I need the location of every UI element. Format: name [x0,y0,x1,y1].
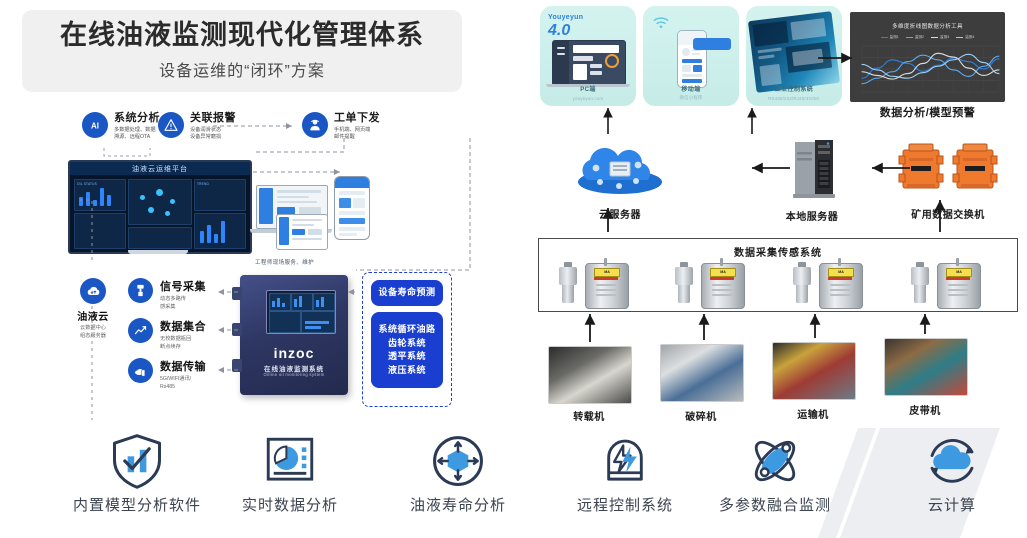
cloud-compute-icon [877,430,1027,492]
feature-desc: 动态多路传 感采集 [160,296,206,312]
chat-bubble-icon [693,38,731,50]
node-label: 本地服务器 [752,208,872,223]
card-label: 移动端 [643,84,739,93]
svg-text:AI: AI [91,121,99,130]
bottom-item-label: 远程控制系统 [550,494,700,515]
tablet-illustration [276,214,328,250]
monitor-stand [128,250,188,254]
machine-photo[interactable] [660,344,744,402]
sensor-pair[interactable]: MA [787,261,877,307]
page-title: 在线油液监测现代化管理体系 [60,21,424,51]
bottom-item-model-software[interactable]: 内置模型分析软件 [62,430,212,515]
card-label: PC端 [540,84,636,93]
node-label: 云服务器 [560,206,680,221]
tower-server-icon [783,138,841,200]
node-cloud-server[interactable]: 云服务器 [560,148,680,221]
shield-chart-icon [62,430,212,492]
transmit-icon [128,358,153,383]
sensor-pair[interactable]: MA [669,261,759,307]
lightning-dome-icon [550,430,700,492]
chart-plot [850,42,1005,100]
feature-work-order[interactable]: 工单下发 手机端、网页端 邮件提醒 [302,112,380,142]
device-brand-text: inzoc [274,345,315,361]
device-screen [266,290,336,334]
feature-desc: 手机端、网页端 邮件提醒 [334,127,380,143]
feature-label: 工单下发 [334,112,380,125]
legend-item: 监测2 [906,35,924,40]
chart-title: 多维度折线图数据分析工具 [850,22,1005,30]
feature-desc: 多数据处理、数据 溯源、远程OTA [114,127,160,143]
sensor-icon [128,278,153,303]
machine-photo[interactable] [548,346,632,404]
bottom-item-label: 油液寿命分析 [383,494,533,515]
device-brand: inzoc [240,345,348,361]
card-industrial[interactable]: 工业控制系统 RS485/232/RJ45/4G/5G [746,6,842,106]
card-sublabel: 微信小程序 [643,95,739,101]
bottom-item-remote-control[interactable]: 远程控制系统 [550,430,700,515]
legend-item: 监测4 [956,35,974,40]
chart-caption: 数据分析/模型预警 [850,104,1005,120]
worker-icon [302,112,328,138]
card-sublabel: RS485/232/RJ45/4G/5G [746,96,842,101]
sensor-tag: MA [828,268,854,277]
infographic-page: 在线油液监测现代化管理体系 设备运维的“闭环”方案 AI 系统分析 多数据处理、… [0,0,1027,534]
bottom-item-label: 云计算 [877,494,1027,515]
machine-label: 皮带机 [884,402,966,417]
bottom-item-multiparam-monitor[interactable]: 多参数融合监测 [700,430,850,515]
pill-system-list[interactable]: 系统循环油路 齿轮系统 透平系统 液压系统 [371,312,443,388]
sensor-pair[interactable]: MA [905,261,995,307]
device-name-en: Online oil monitoring system [240,372,348,377]
mining-switch-icon [893,140,1003,198]
youyeyun-brand: Youyeyun [548,14,583,21]
feature-label: 信号采集 [160,278,206,294]
card-mobile[interactable]: 移动端 微信小程序 [643,6,739,106]
cloud-server-icon [574,148,666,198]
bottom-item-label: 实时数据分析 [215,494,365,515]
machine-label: 转载机 [548,408,630,423]
sensor-system-box: 数据采集传感系统 MA MA [538,238,1018,312]
node-label: 油液云 [58,308,128,323]
dashboard-title: 油液云运维平台 [70,162,250,175]
bottom-item-label: 内置模型分析软件 [62,494,212,515]
pill-lifetime-prediction[interactable]: 设备寿命预测 [371,280,443,306]
machine-photo[interactable] [772,342,856,400]
card-sublabel: youyeyun.com [540,96,636,101]
page-subtitle: 设备运维的“闭环”方案 [159,57,325,81]
node-local-server[interactable]: 本地服务器 [752,138,872,223]
analysis-chart-panel[interactable]: 多维度折线图数据分析工具 监测1 监测2 监测3 监测4 [850,12,1005,102]
laptop-icon [552,40,626,86]
card-pc[interactable]: Youyeyun 4.0 PC端 youyeyun.com [540,6,636,106]
feature-system-analysis[interactable]: AI 系统分析 多数据处理、数据 溯源、远程OTA [82,112,160,142]
wifi-icon [653,16,669,34]
youyeyun-version: 4.0 [548,22,570,40]
feature-data-aggregation[interactable]: 数据集合 无校数据瓶回 断点续存 [128,318,206,352]
feature-desc: 设备润滑状态 设备异常磨损 [190,127,236,143]
title-block: 在线油液监测现代化管理体系 设备运维的“闭环”方案 [22,10,462,92]
legend-item: 监测3 [931,35,949,40]
chart-icon [128,318,153,343]
node-label: 矿用数据交换机 [878,206,1018,221]
sensor-pair[interactable]: MA [553,261,643,307]
dashboard-body: OIL STATUS TREND [70,175,250,252]
bottom-item-cloud-computing[interactable]: 云计算 [877,430,1027,515]
bottom-item-label: 多参数融合监测 [700,494,850,515]
feature-label: 关联报警 [190,112,236,125]
feature-label: 数据传输 [160,358,206,374]
pie-report-icon [215,430,365,492]
node-desc: 云数据中心 组态服务器 [58,325,128,341]
bottom-item-realtime-analysis[interactable]: 实时数据分析 [215,430,365,515]
phone-header [335,177,369,188]
node-mining-switch[interactable]: 矿用数据交换机 [878,140,1018,221]
bottom-item-oil-life-analysis[interactable]: 油液寿命分析 [383,430,533,515]
cloud-sync-icon [80,278,106,304]
chart-legend: 监测1 监测2 监测3 监测4 [850,35,1005,40]
sensor-tag: MA [594,268,620,277]
sensor-tag: MA [710,268,736,277]
prediction-box: 设备寿命预测 系统循环油路 齿轮系统 透平系统 液压系统 [362,272,452,407]
phone-illustration [334,176,370,240]
ai-icon: AI [82,112,108,138]
feature-label: 数据集合 [160,318,206,334]
oil-cloud-node[interactable]: 油液云 云数据中心 组态服务器 [58,278,128,341]
warning-triangle-icon [158,112,184,138]
machine-label: 运输机 [772,406,854,421]
cube-arrows-icon [383,430,533,492]
engineer-caption: 工程师现场服务、维护 [255,258,415,266]
card-label: 工业控制系统 [746,84,842,93]
atom-icon [700,430,850,492]
sensor-tag: MA [946,268,972,277]
legend-item: 监测1 [881,35,899,40]
feature-label: 系统分析 [114,112,160,125]
inzoc-device[interactable]: inzoc 在线油液监测系统 Online oil monitoring sys… [240,275,348,395]
oil-cloud-dashboard[interactable]: 油液云运维平台 [68,160,252,254]
industrial-screen-icon [748,11,840,93]
machine-photo[interactable] [884,338,968,396]
feature-desc: 无校数据瓶回 断点续存 [160,336,206,352]
feature-desc: 5G/WIFI通讯/ Rs485 [160,376,206,392]
sensor-box-title: 数据采集传感系统 [539,244,1017,259]
bottom-feature-row: 内置模型分析软件 实时数据分析 [0,430,1027,534]
feature-signal-acquisition[interactable]: 信号采集 动态多路传 感采集 [128,278,206,312]
feature-data-transmission[interactable]: 数据传输 5G/WIFI通讯/ Rs485 [128,358,206,392]
feature-linked-alarm[interactable]: 关联报警 设备润滑状态 设备异常磨损 [158,112,236,142]
machine-label: 破碎机 [660,408,742,423]
